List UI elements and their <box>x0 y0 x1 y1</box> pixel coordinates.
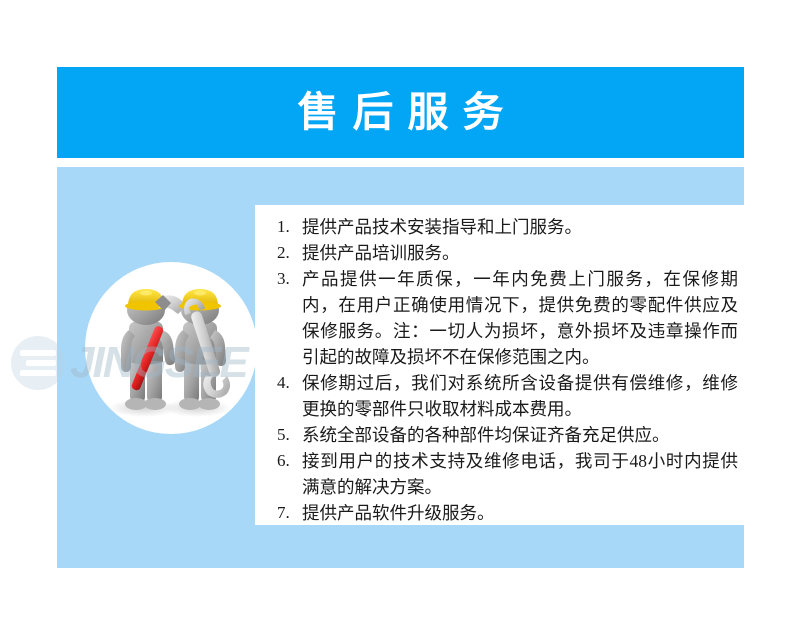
service-list: 1. 提供产品技术安装指导和上门服务。 2. 提供产品培训服务。 3. 产品提供… <box>255 205 744 526</box>
list-item-number: 4. <box>277 370 299 396</box>
poster-page: 售后服务 <box>0 0 803 639</box>
list-item-number: 2. <box>277 240 299 266</box>
list-item-text: 提供产品软件升级服务。 <box>302 500 738 526</box>
page-title: 售后服务 <box>284 92 518 133</box>
list-item: 2. 提供产品培训服务。 <box>277 240 738 266</box>
list-item: 6. 接到用户的技术支持及维修电话，我司于48小时内提供满意的解决方案。 <box>277 448 738 500</box>
list-item-text: 接到用户的技术支持及维修电话，我司于48小时内提供满意的解决方案。 <box>302 448 738 500</box>
list-item-text: 提供产品技术安装指导和上门服务。 <box>302 214 738 240</box>
list-item: 4. 保修期过后，我们对系统所含设备提供有偿维修，维修更换的零部件只收取材料成本… <box>277 370 738 422</box>
list-item-number: 3. <box>277 266 299 292</box>
list-item-text: 保修期过后，我们对系统所含设备提供有偿维修，维修更换的零部件只收取材料成本费用。 <box>302 370 738 422</box>
workers-illustration-svg <box>85 262 257 434</box>
title-banner: 售后服务 <box>57 67 744 158</box>
content-panel: 1. 提供产品技术安装指导和上门服务。 2. 提供产品培训服务。 3. 产品提供… <box>57 167 744 568</box>
service-list-card: 1. 提供产品技术安装指导和上门服务。 2. 提供产品培训服务。 3. 产品提供… <box>255 205 744 525</box>
list-item-number: 1. <box>277 214 299 240</box>
list-item-number: 6. <box>277 448 299 474</box>
list-item: 5. 系统全部设备的各种部件均保证齐备充足供应。 <box>277 422 738 448</box>
list-item-text: 产品提供一年质保，一年内免费上门服务，在保修期内，在用户正确使用情况下，提供免费… <box>302 266 738 370</box>
list-item: 7. 提供产品软件升级服务。 <box>277 500 738 526</box>
list-item-number: 7. <box>277 500 299 526</box>
illustration <box>85 262 257 434</box>
list-item-text: 系统全部设备的各种部件均保证齐备充足供应。 <box>302 422 738 448</box>
list-item-text: 提供产品培训服务。 <box>302 240 738 266</box>
list-item: 1. 提供产品技术安装指导和上门服务。 <box>277 214 738 240</box>
list-item-number: 5. <box>277 422 299 448</box>
list-item: 3. 产品提供一年质保，一年内免费上门服务，在保修期内，在用户正确使用情况下，提… <box>277 266 738 370</box>
